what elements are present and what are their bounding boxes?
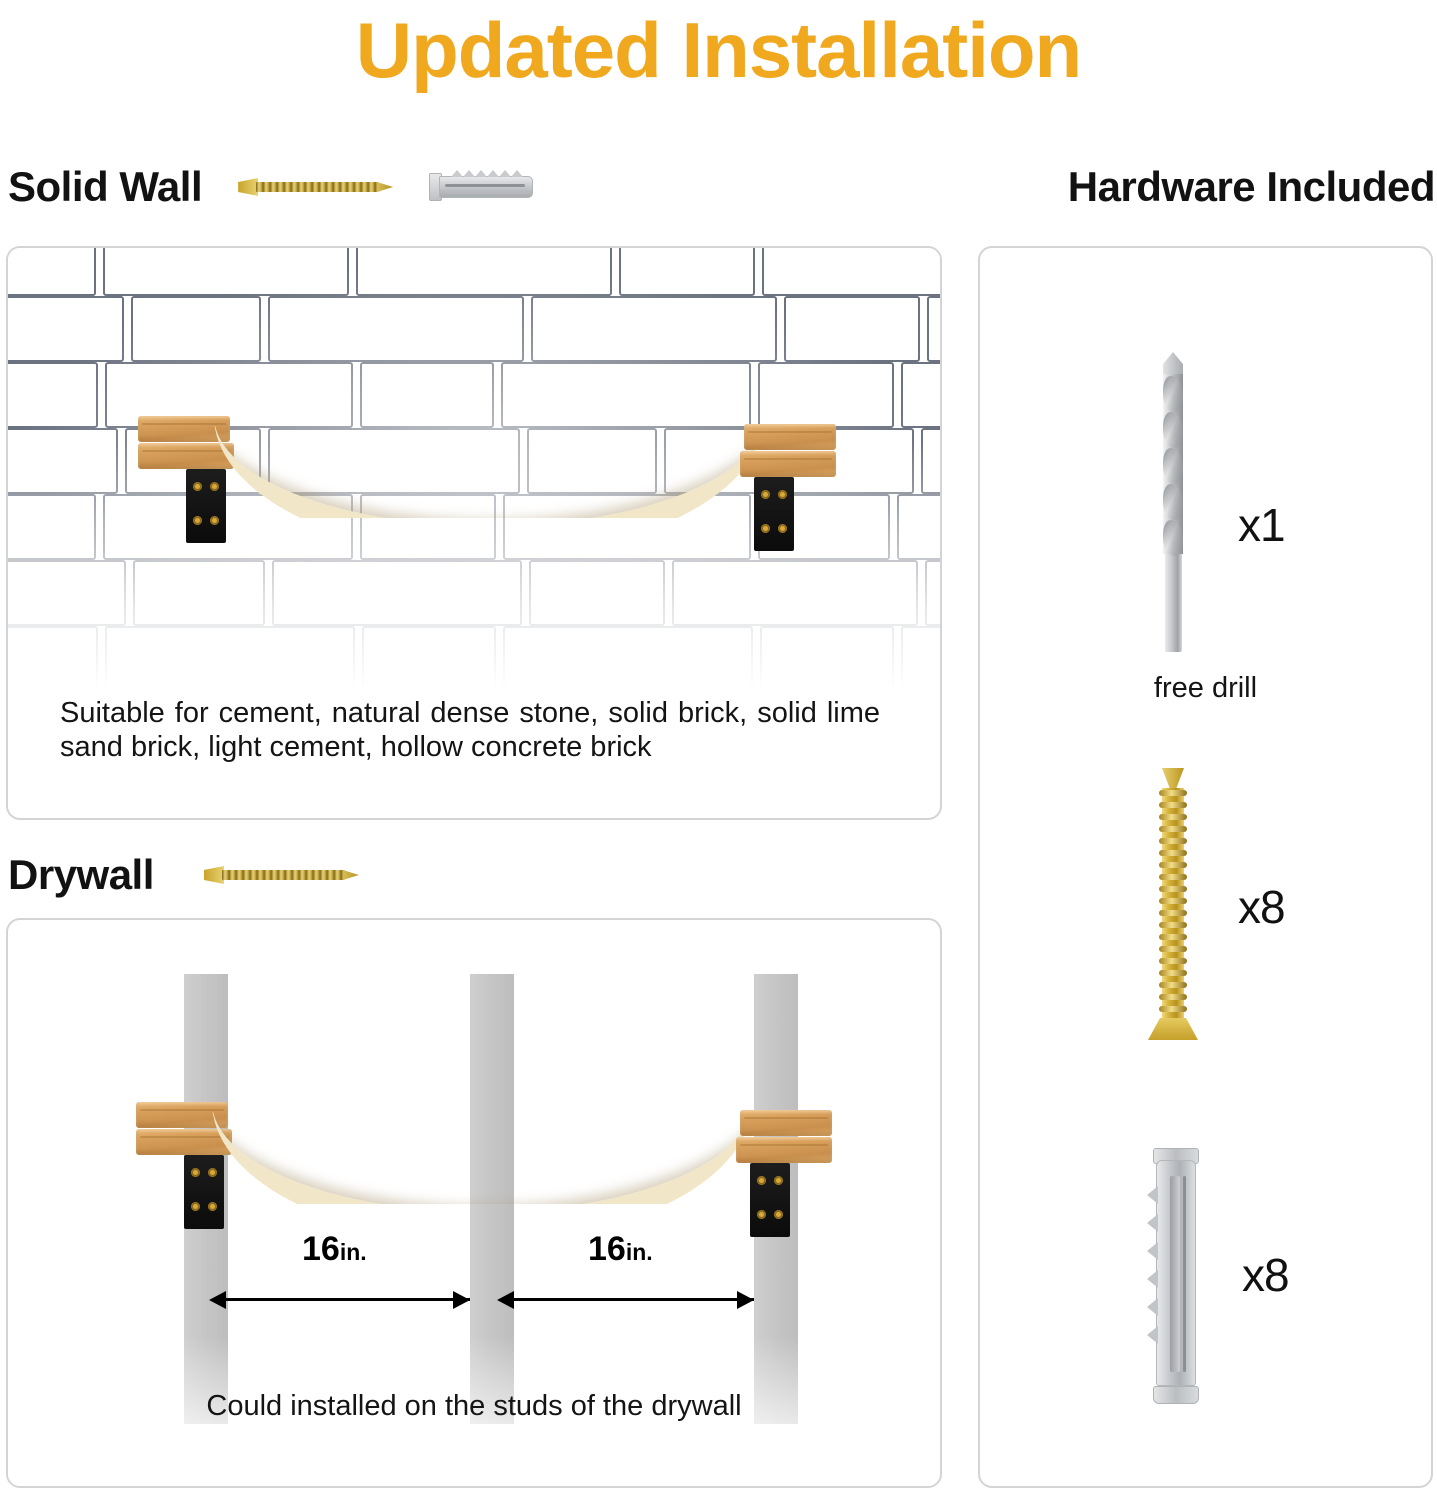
screw-icon: [1162, 768, 1184, 1046]
installation-infographic: Updated Installation Solid Wall Hardware…: [0, 0, 1437, 1497]
wall-anchor-icon: [429, 170, 533, 204]
wood-slat-bottom: [740, 451, 836, 477]
hardware-item-drill: x1 free drill: [980, 248, 1431, 668]
wood-slat-top: [744, 424, 836, 450]
drywall-caption: Could installed on the studs of the dryw…: [8, 1390, 940, 1423]
mounting-plate-right: [750, 1163, 790, 1237]
drill-bit-icon: [1164, 352, 1184, 652]
wall-anchor-icon: [1156, 1148, 1196, 1406]
screw-count: x8: [1238, 880, 1285, 934]
screw-icon: [204, 865, 359, 885]
canvas-sling: [214, 426, 764, 518]
drywall-panel: 16in. 16in. Could installed on the studs…: [6, 918, 942, 1488]
page-title: Updated Installation: [0, 4, 1437, 96]
mounting-plate-right: [754, 477, 794, 551]
drill-count: x1: [1238, 498, 1285, 552]
hardware-item-anchor: x8: [980, 1148, 1431, 1448]
drywall-heading-group: Drywall: [8, 851, 359, 899]
screw-icon: [238, 177, 393, 197]
hardware-heading: Hardware Included: [1068, 163, 1435, 211]
dimension-label-left: 16in.: [302, 1230, 367, 1269]
solid-wall-heading-group: Solid Wall: [8, 163, 533, 211]
anchor-count: x8: [1242, 1248, 1289, 1302]
solid-wall-panel: Suitable for cement, natural dense stone…: [6, 246, 942, 820]
drill-caption: free drill: [980, 672, 1431, 705]
solid-wall-heading: Solid Wall: [8, 163, 202, 211]
hardware-item-screw: x8: [980, 768, 1431, 1068]
drywall-heading: Drywall: [8, 851, 154, 899]
dimension-label-right: 16in.: [588, 1230, 653, 1269]
solid-wall-caption: Suitable for cement, natural dense stone…: [60, 696, 880, 764]
hardware-panel: x1 free drill x8: [978, 246, 1433, 1488]
wood-slat-top: [740, 1110, 832, 1136]
canvas-sling: [212, 1112, 752, 1204]
wood-slat-bottom: [736, 1137, 832, 1163]
